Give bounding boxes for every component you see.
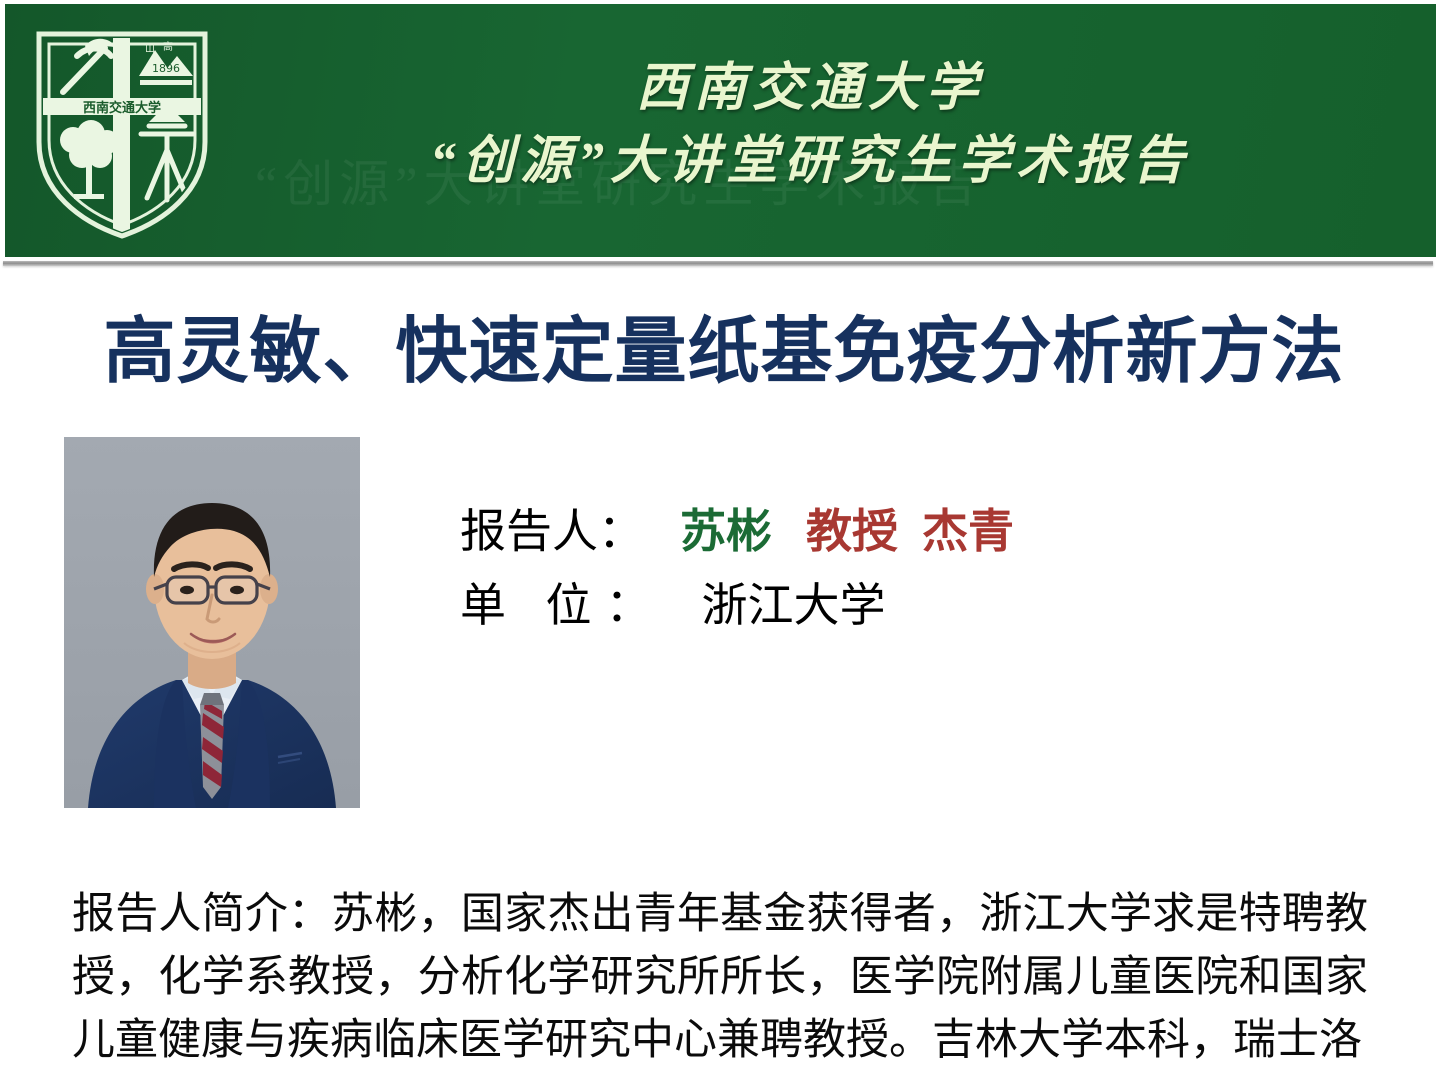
- speaker-info: 报告人： 苏彬 教授 杰青 单 位： 浙江大学: [460, 500, 1340, 637]
- svg-text:高: 高: [163, 40, 173, 53]
- header-inner: 1896 山 高 西南交通大学: [5, 4, 1436, 257]
- speaker-honor: 杰青: [922, 500, 1014, 562]
- speaker-row-affiliation: 单 位： 浙江大学: [460, 575, 1340, 637]
- speaker-label-presenter: 报告人：: [460, 501, 644, 563]
- svg-text:西南交通大学: 西南交通大学: [83, 100, 161, 116]
- speaker-bio: 报告人简介：苏彬，国家杰出青年基金获得者，浙江大学求是特聘教授，化学系教授，分析…: [72, 884, 1368, 1072]
- svg-text:交: 交: [114, 135, 131, 155]
- speaker-rank: 教授: [806, 500, 898, 562]
- svg-text:山: 山: [145, 43, 155, 55]
- header-title-block: 西南交通大学 “创源”大讲堂研究生学术报告: [235, 56, 1385, 195]
- speaker-name: 苏彬: [680, 500, 772, 562]
- speaker-affiliation: 浙江大学: [702, 575, 886, 637]
- header-divider: [3, 261, 1433, 266]
- page-title: 高灵敏、快速定量纸基免疫分析新方法: [74, 312, 1374, 393]
- speaker-row-presenter: 报告人： 苏彬 教授 杰青: [460, 500, 1340, 563]
- speaker-label-affiliation: 单 位：: [460, 575, 666, 637]
- header-university-name: 西南交通大学: [235, 56, 1385, 123]
- speaker-portrait: [64, 437, 360, 808]
- university-crest-icon: 1896 山 高 西南交通大学: [27, 22, 217, 240]
- header-banner: 1896 山 高 西南交通大学: [5, 4, 1436, 257]
- header-event-name: “创源”大讲堂研究生学术报告: [235, 129, 1385, 196]
- svg-text:大: 大: [114, 167, 131, 187]
- svg-text:1896: 1896: [152, 62, 180, 75]
